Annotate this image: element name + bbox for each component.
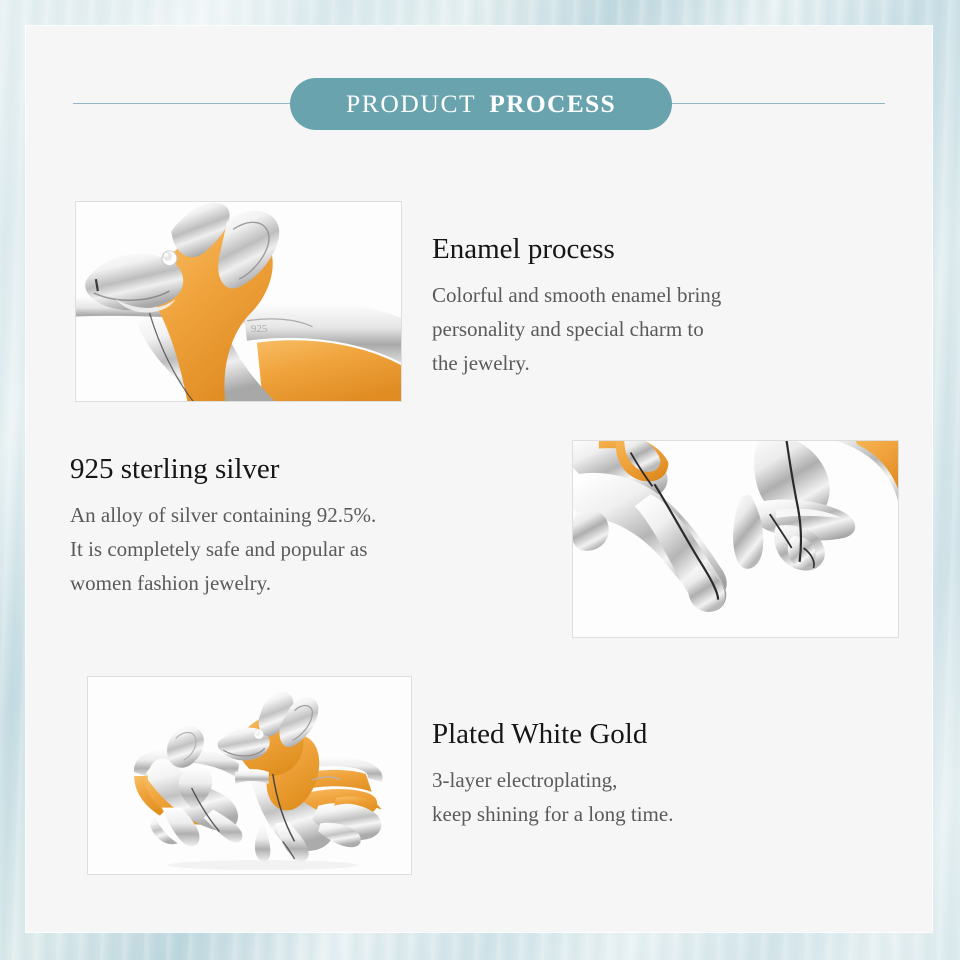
full-corgi-ring-illustration: [88, 677, 411, 874]
block-title-plated-white-gold: Plated White Gold: [432, 718, 862, 751]
content-panel: PRODUCT PROCESS: [26, 26, 932, 932]
block-desc-enamel: Colorful and smooth enamel bring persona…: [432, 278, 862, 380]
desc-line: keep shining for a long time.: [432, 797, 862, 831]
desc-line: women fashion jewelry.: [70, 566, 520, 600]
header: PRODUCT PROCESS: [26, 78, 932, 134]
text-block-plated-white-gold: Plated White Gold 3-layer electroplating…: [432, 718, 862, 831]
block-title-enamel: Enamel process: [432, 233, 862, 266]
product-photo-enamel: 925: [75, 201, 402, 402]
desc-line: It is completely safe and popular as: [70, 532, 520, 566]
header-rule-right: [658, 103, 885, 104]
header-title-regular: PRODUCT: [346, 89, 476, 119]
desc-line: the jewelry.: [432, 346, 862, 380]
product-photo-plated-white-gold: [87, 676, 412, 875]
desc-line: An alloy of silver containing 92.5%.: [70, 498, 520, 532]
svg-text:925: 925: [251, 323, 268, 335]
desc-line: 3-layer electroplating,: [432, 763, 862, 797]
desc-line: Colorful and smooth enamel bring: [432, 278, 862, 312]
header-title-bold: PROCESS: [489, 89, 616, 119]
text-block-sterling-silver: 925 sterling silver An alloy of silver c…: [70, 453, 520, 600]
block-desc-plated-white-gold: 3-layer electroplating, keep shining for…: [432, 763, 862, 831]
block-desc-sterling-silver: An alloy of silver containing 92.5%. It …: [70, 498, 520, 600]
text-block-enamel: Enamel process Colorful and smooth ename…: [432, 233, 862, 380]
corgi-paws-closeup-illustration: [573, 441, 898, 637]
infographic-page: PRODUCT PROCESS: [0, 0, 960, 960]
product-photo-sterling-silver: [572, 440, 899, 638]
header-rule-left: [73, 103, 300, 104]
header-title-pill: PRODUCT PROCESS: [290, 78, 672, 130]
desc-line: personality and special charm to: [432, 312, 862, 346]
block-title-sterling-silver: 925 sterling silver: [70, 453, 520, 486]
corgi-head-closeup-illustration: 925: [76, 202, 401, 401]
